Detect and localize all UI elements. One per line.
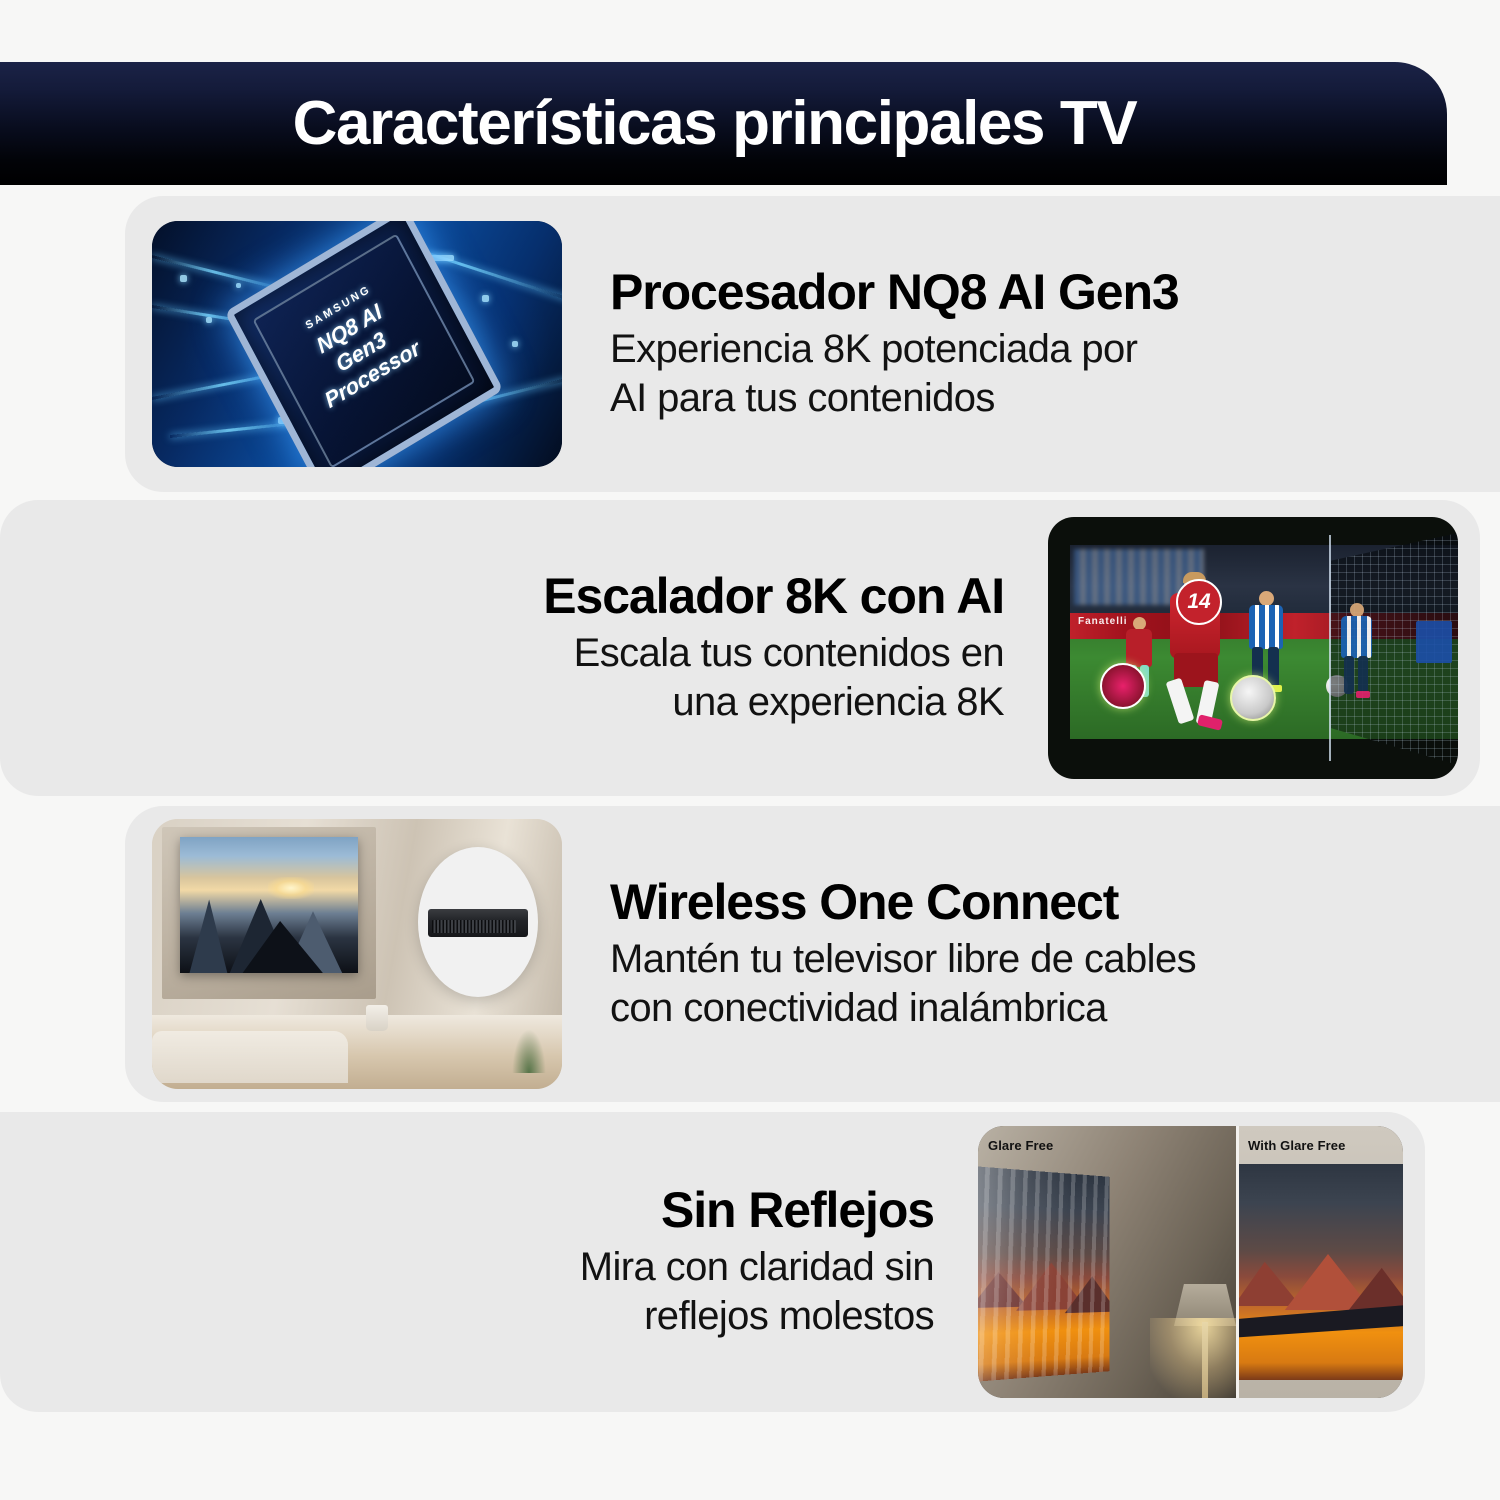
one-connect-box-vents bbox=[432, 920, 516, 933]
feature-description-line-1: Escala tus contenidos en bbox=[574, 629, 1004, 678]
lamp-glow bbox=[1150, 1318, 1236, 1398]
tv-glare-free bbox=[1236, 1164, 1403, 1380]
feature-title: Sin Reflejos bbox=[661, 1184, 934, 1237]
living-room-one-connect-image bbox=[152, 819, 562, 1089]
advertising-board-text: Fanatelli bbox=[1078, 616, 1128, 627]
feature-description-line-2: reflejos molestos bbox=[644, 1292, 934, 1341]
feature-title: Procesador NQ8 AI Gen3 bbox=[610, 266, 1179, 319]
circuit-pad bbox=[236, 283, 241, 288]
nq8-ai-gen3-chip-image: SAMSUNG NQ8 AI Gen3 Processor bbox=[152, 221, 562, 467]
soccer-player bbox=[1336, 603, 1378, 707]
zoom-highlight-ball bbox=[1230, 675, 1276, 721]
circuit-pad bbox=[206, 317, 212, 323]
vase bbox=[366, 1005, 388, 1031]
circuit-pad bbox=[180, 275, 187, 282]
lamp-pole bbox=[1202, 1322, 1208, 1398]
feature-description-line-1: Mira con claridad sin bbox=[580, 1243, 934, 1292]
feature-text-glare-free: Sin Reflejos Mira con claridad sin refle… bbox=[0, 1184, 978, 1341]
feature-description-line-2: con conectividad inalámbrica bbox=[610, 984, 1107, 1033]
player-number-badge: 14 bbox=[1176, 579, 1222, 625]
comparison-panel-with-glare-free: With Glare Free bbox=[1236, 1126, 1403, 1398]
feature-card-processor: SAMSUNG NQ8 AI Gen3 Processor Procesador… bbox=[125, 196, 1500, 492]
tv-with-glare bbox=[978, 1166, 1110, 1382]
feature-description-line-2: una experiencia 8K bbox=[672, 678, 1004, 727]
one-connect-box bbox=[428, 909, 528, 937]
glare-reflection-overlay bbox=[978, 1166, 1110, 1382]
feature-text-processor: Procesador NQ8 AI Gen3 Experiencia 8K po… bbox=[562, 266, 1500, 423]
one-connect-callout-oval bbox=[418, 847, 538, 997]
glare-free-comparison-image: Glare Free With Glare Free bbox=[978, 1126, 1403, 1398]
stadium-signage bbox=[1416, 621, 1452, 663]
comparison-panel-without-glare-free: Glare Free bbox=[978, 1126, 1236, 1398]
feature-card-upscaler: Escalador 8K con AI Escala tus contenido… bbox=[0, 500, 1480, 796]
feature-description-line-1: Experiencia 8K potenciada por bbox=[610, 325, 1137, 374]
feature-page: Características principales TV SAMSUN bbox=[0, 0, 1500, 1500]
zoom-highlight-boot bbox=[1100, 663, 1146, 709]
feature-title: Wireless One Connect bbox=[610, 876, 1118, 929]
circuit-pad bbox=[482, 295, 489, 302]
feature-description-line-1: Mantén tu televisor libre de cables bbox=[610, 935, 1196, 984]
plant bbox=[512, 1029, 546, 1073]
wall-mounted-tv bbox=[180, 837, 358, 973]
sunset-glow bbox=[268, 877, 314, 899]
upscaling-mesh-edge bbox=[1329, 535, 1331, 761]
feature-title: Escalador 8K con AI bbox=[543, 570, 1004, 623]
feature-card-one-connect: Wireless One Connect Mantén tu televisor… bbox=[125, 806, 1500, 1102]
feature-description-line-2: AI para tus contenidos bbox=[610, 374, 995, 423]
comparison-label-right: With Glare Free bbox=[1248, 1138, 1345, 1153]
soccer-8k-upscaling-image: Fanatelli bbox=[1048, 517, 1458, 779]
feature-card-glare-free: Sin Reflejos Mira con claridad sin refle… bbox=[0, 1112, 1425, 1412]
circuit-pad bbox=[512, 341, 518, 347]
feature-text-one-connect: Wireless One Connect Mantén tu televisor… bbox=[562, 876, 1500, 1033]
page-header-banner: Características principales TV bbox=[0, 62, 1447, 185]
sofa bbox=[152, 1031, 348, 1083]
page-title: Características principales TV bbox=[293, 93, 1137, 155]
comparison-label-left: Glare Free bbox=[988, 1138, 1053, 1153]
comparison-divider bbox=[1236, 1126, 1239, 1398]
feature-text-upscaler: Escalador 8K con AI Escala tus contenido… bbox=[0, 570, 1048, 727]
